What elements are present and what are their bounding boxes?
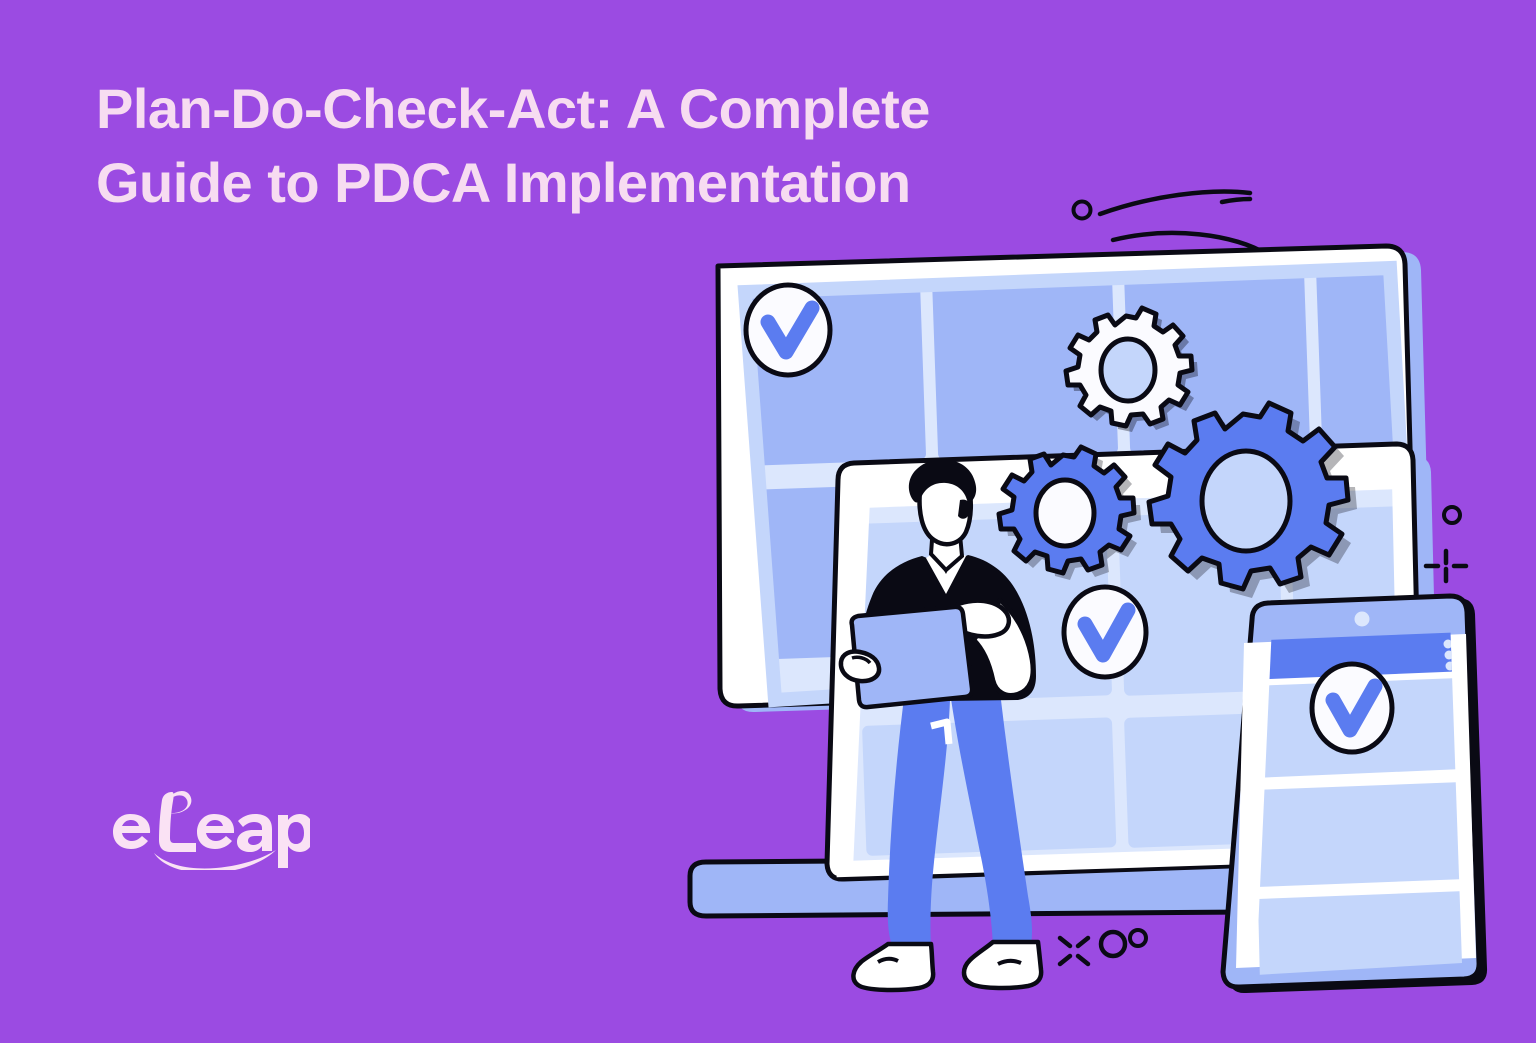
page-title-line-2: Guide to PDCA Implementation	[96, 146, 1076, 220]
page-title-line-1: Plan-Do-Check-Act: A Complete	[96, 72, 1076, 146]
checkmark-badge-phone	[1312, 664, 1392, 752]
checkmark-badge-center	[1064, 587, 1146, 677]
eleap-logo-mark	[113, 791, 310, 870]
eleap-logo[interactable]	[110, 780, 310, 870]
banner-canvas: Plan-Do-Check-Act: A Complete Guide to P…	[0, 0, 1536, 1043]
swoosh-lines-top-right	[1074, 192, 1269, 255]
page-title: Plan-Do-Check-Act: A Complete Guide to P…	[96, 72, 1076, 221]
sparkle-circles-bottom	[1060, 930, 1146, 964]
smartphone	[1223, 596, 1487, 993]
checkmark-badge-rear	[746, 285, 830, 375]
